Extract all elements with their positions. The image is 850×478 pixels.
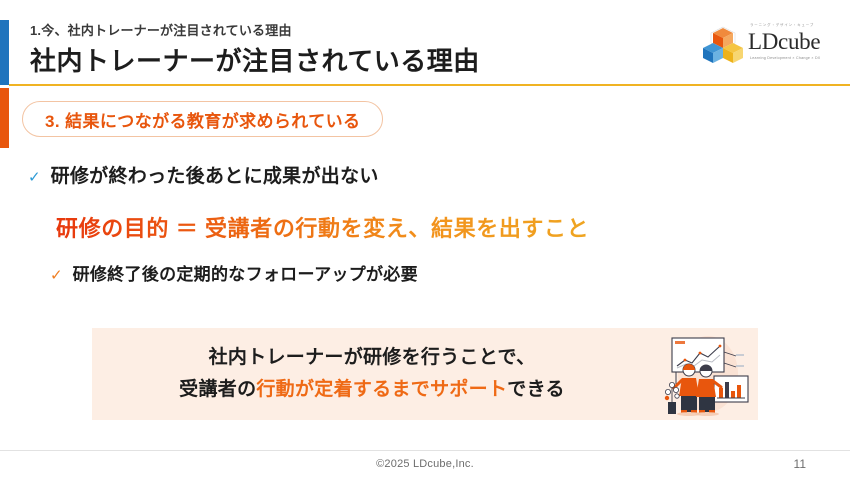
- trainers-presenting-charts-illustration: [656, 330, 752, 418]
- bullet-item-1: ✓ 研修が終わった後あとに成果が出ない: [28, 161, 379, 188]
- callout-line-2-suffix: できる: [507, 379, 565, 400]
- breadcrumb: 1.今、社内トレーナーが注目されている理由: [30, 20, 292, 39]
- brand-logo: ラーニング・デザイン・キューブ LDcube Learning Developm…: [702, 22, 830, 68]
- header-divider: [9, 84, 850, 86]
- section-heading-label: 3. 結果につながる教育が求められている: [45, 107, 360, 132]
- logo-tagline-bottom: Learning Development × Change × DX: [748, 55, 830, 62]
- callout-line-2-prefix: 受講者の: [179, 379, 256, 400]
- section-heading-pill: 3. 結果につながる教育が求められている: [22, 101, 383, 137]
- callout-box: 社内トレーナーが研修を行うことで、 受講者の行動が定着するまでサポートできる: [92, 328, 758, 420]
- page-title: 社内トレーナーが注目されている理由: [30, 41, 480, 78]
- footer-divider: [0, 450, 850, 451]
- bullet-label-2: 研修終了後の定期的なフォローアップが必要: [73, 260, 418, 285]
- check-icon: ✓: [50, 268, 63, 283]
- callout-line-1: 社内トレーナーが研修を行うことで、: [92, 342, 652, 374]
- slide-canvas: 1.今、社内トレーナーが注目されている理由 社内トレーナーが注目されている理由: [0, 0, 850, 478]
- logo-wordmark: LDcube: [748, 29, 830, 55]
- page-number: 11: [794, 457, 806, 471]
- logo-text-block: ラーニング・デザイン・キューブ LDcube Learning Developm…: [748, 22, 830, 62]
- check-icon: ✓: [28, 170, 41, 185]
- slide-header: 1.今、社内トレーナーが注目されている理由 社内トレーナーが注目されている理由: [0, 0, 850, 86]
- bullet-item-2: ✓ 研修終了後の定期的なフォローアップが必要: [50, 260, 418, 285]
- callout-line-2: 受講者の行動が定着するまでサポートできる: [92, 374, 652, 406]
- bullet-label-1: 研修が終わった後あとに成果が出ない: [51, 161, 379, 188]
- equation-statement: 研修の目的 ＝ 受講者の行動を変え、結果を出すこと: [56, 211, 589, 243]
- copyright-text: ©2025 LDcube,Inc.: [0, 458, 850, 470]
- logo-tagline-top: ラーニング・デザイン・キューブ: [748, 22, 830, 29]
- accent-bar-orange: [0, 88, 9, 148]
- callout-text-block: 社内トレーナーが研修を行うことで、 受講者の行動が定着するまでサポートできる: [92, 342, 652, 406]
- callout-line-2-highlight: 行動が定着するまでサポート: [256, 379, 507, 400]
- cube-logo-icon: [702, 26, 744, 66]
